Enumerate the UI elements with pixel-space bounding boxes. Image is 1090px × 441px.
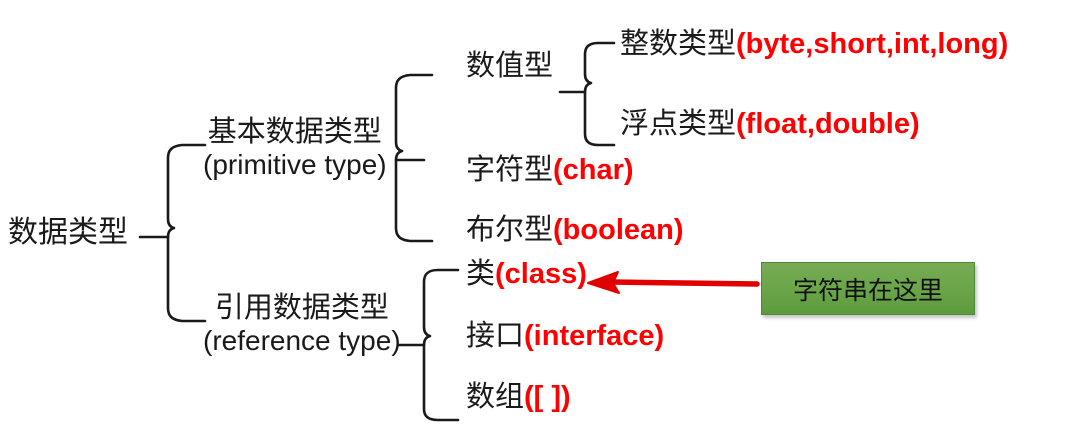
array-label-cn: 数组 — [466, 381, 524, 413]
node-array-type: 数组([ ]) — [466, 381, 571, 413]
char-label-cn: 字符型 — [466, 154, 553, 186]
brace-root-lower — [168, 237, 205, 321]
numeric-label-cn: 数值型 — [466, 50, 553, 82]
integer-label-en: (byte,short,int,long) — [736, 28, 1008, 60]
float-label-cn: 浮点类型 — [620, 108, 736, 140]
interface-label-en: (interface) — [524, 320, 664, 352]
root-label-text: 数据类型 — [8, 216, 128, 249]
brace-root-upper — [168, 145, 205, 237]
node-reference-type: 引用数据类型 (reference type) — [203, 292, 401, 357]
array-label-en: ([ ]) — [524, 381, 571, 413]
brace-primitive-upper — [396, 75, 432, 160]
brace-primitive-lower — [396, 160, 432, 241]
reference-label-en: (reference type) — [203, 325, 401, 356]
node-interface-type: 接口(interface) — [466, 320, 664, 352]
node-primitive-type: 基本数据类型 (primitive type) — [203, 116, 387, 181]
primitive-label-en: (primitive type) — [203, 149, 387, 180]
node-class-type: 类(class) — [466, 258, 587, 290]
brace-reference-upper — [424, 270, 458, 345]
reference-label-cn: 引用数据类型 — [203, 292, 401, 324]
char-label-en: (char) — [553, 154, 634, 186]
integer-label-cn: 整数类型 — [620, 28, 736, 60]
boolean-label-cn: 布尔型 — [466, 214, 553, 246]
callout-box: 字符串在这里 — [761, 262, 975, 315]
class-label-en: (class) — [495, 258, 587, 290]
node-numeric-type: 数值型 — [466, 50, 553, 82]
brace-numeric-lower — [585, 92, 614, 145]
boolean-label-en: (boolean) — [553, 214, 684, 246]
node-char-type: 字符型(char) — [466, 154, 634, 186]
callout-arrow-icon — [588, 272, 757, 293]
brace-numeric-upper — [585, 43, 614, 92]
node-data-type-root: 数据类型 — [8, 216, 128, 250]
class-label-cn: 类 — [466, 258, 495, 290]
callout-text: 字符串在这里 — [793, 271, 943, 307]
node-float-type: 浮点类型(float,double) — [620, 108, 920, 140]
node-boolean-type: 布尔型(boolean) — [466, 214, 684, 246]
brace-reference-lower — [424, 345, 458, 420]
node-integer-type: 整数类型(byte,short,int,long) — [620, 28, 1008, 60]
diagram-canvas: 数据类型 基本数据类型 (primitive type) 引用数据类型 (ref… — [0, 0, 1090, 441]
interface-label-cn: 接口 — [466, 320, 524, 352]
float-label-en: (float,double) — [736, 108, 920, 140]
primitive-label-cn: 基本数据类型 — [203, 116, 387, 148]
